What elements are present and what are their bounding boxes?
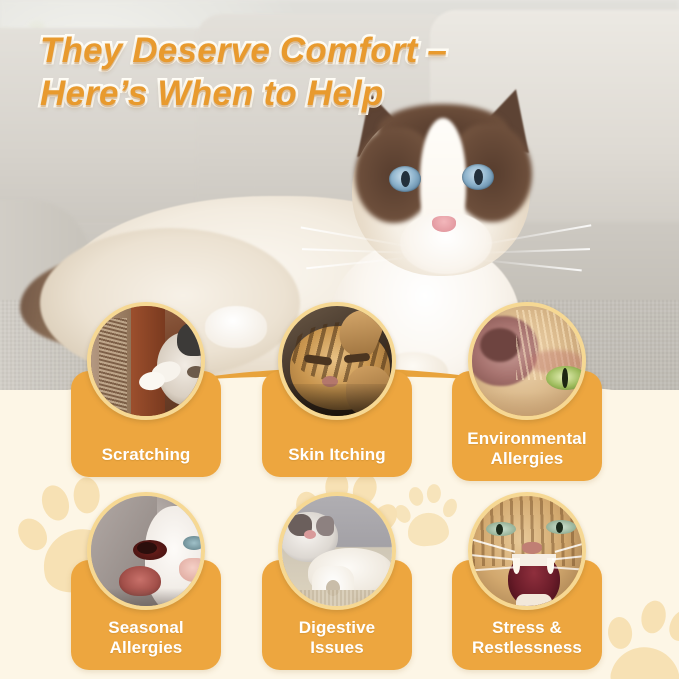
- poster-root: Scratching Skin Itching: [0, 0, 679, 679]
- gray-white-cat-red-eye-photo: [91, 496, 201, 606]
- card-thumb-scratching: [87, 302, 205, 420]
- card-thumb-digestive-issues: [278, 492, 396, 610]
- card-label-scratching: Scratching: [71, 445, 221, 465]
- poster-title-line-2: Here’s When to Help: [40, 73, 640, 116]
- cat-scratching-furniture-photo: [91, 306, 201, 416]
- card-label-skin-itching: Skin Itching: [262, 445, 412, 465]
- tabby-cat-grooming-itching-photo: [282, 306, 392, 416]
- card-label-environmental-allergies: Environmental Allergies: [452, 429, 602, 469]
- card-thumb-seasonal-allergies: [87, 492, 205, 610]
- poster-title-line-1: They Deserve Comfort –: [40, 30, 640, 73]
- card-label-seasonal-allergies: Seasonal Allergies: [71, 618, 221, 658]
- card-thumb-environmental-allergies: [468, 302, 586, 420]
- poster-title: They Deserve Comfort – Here’s When to He…: [40, 30, 640, 115]
- hissing-orange-tabby-cat-photo: [472, 496, 582, 606]
- card-thumb-skin-itching: [278, 302, 396, 420]
- card-label-digestive-issues: Digestive Issues: [262, 618, 412, 658]
- ginger-cat-irritated-ear-photo: [472, 306, 582, 416]
- card-thumb-stress-restlessness: [468, 492, 586, 610]
- card-label-stress-restlessness: Stress & Restlessness: [452, 618, 602, 658]
- cat-with-litter-and-paper-roll-photo: [282, 496, 392, 606]
